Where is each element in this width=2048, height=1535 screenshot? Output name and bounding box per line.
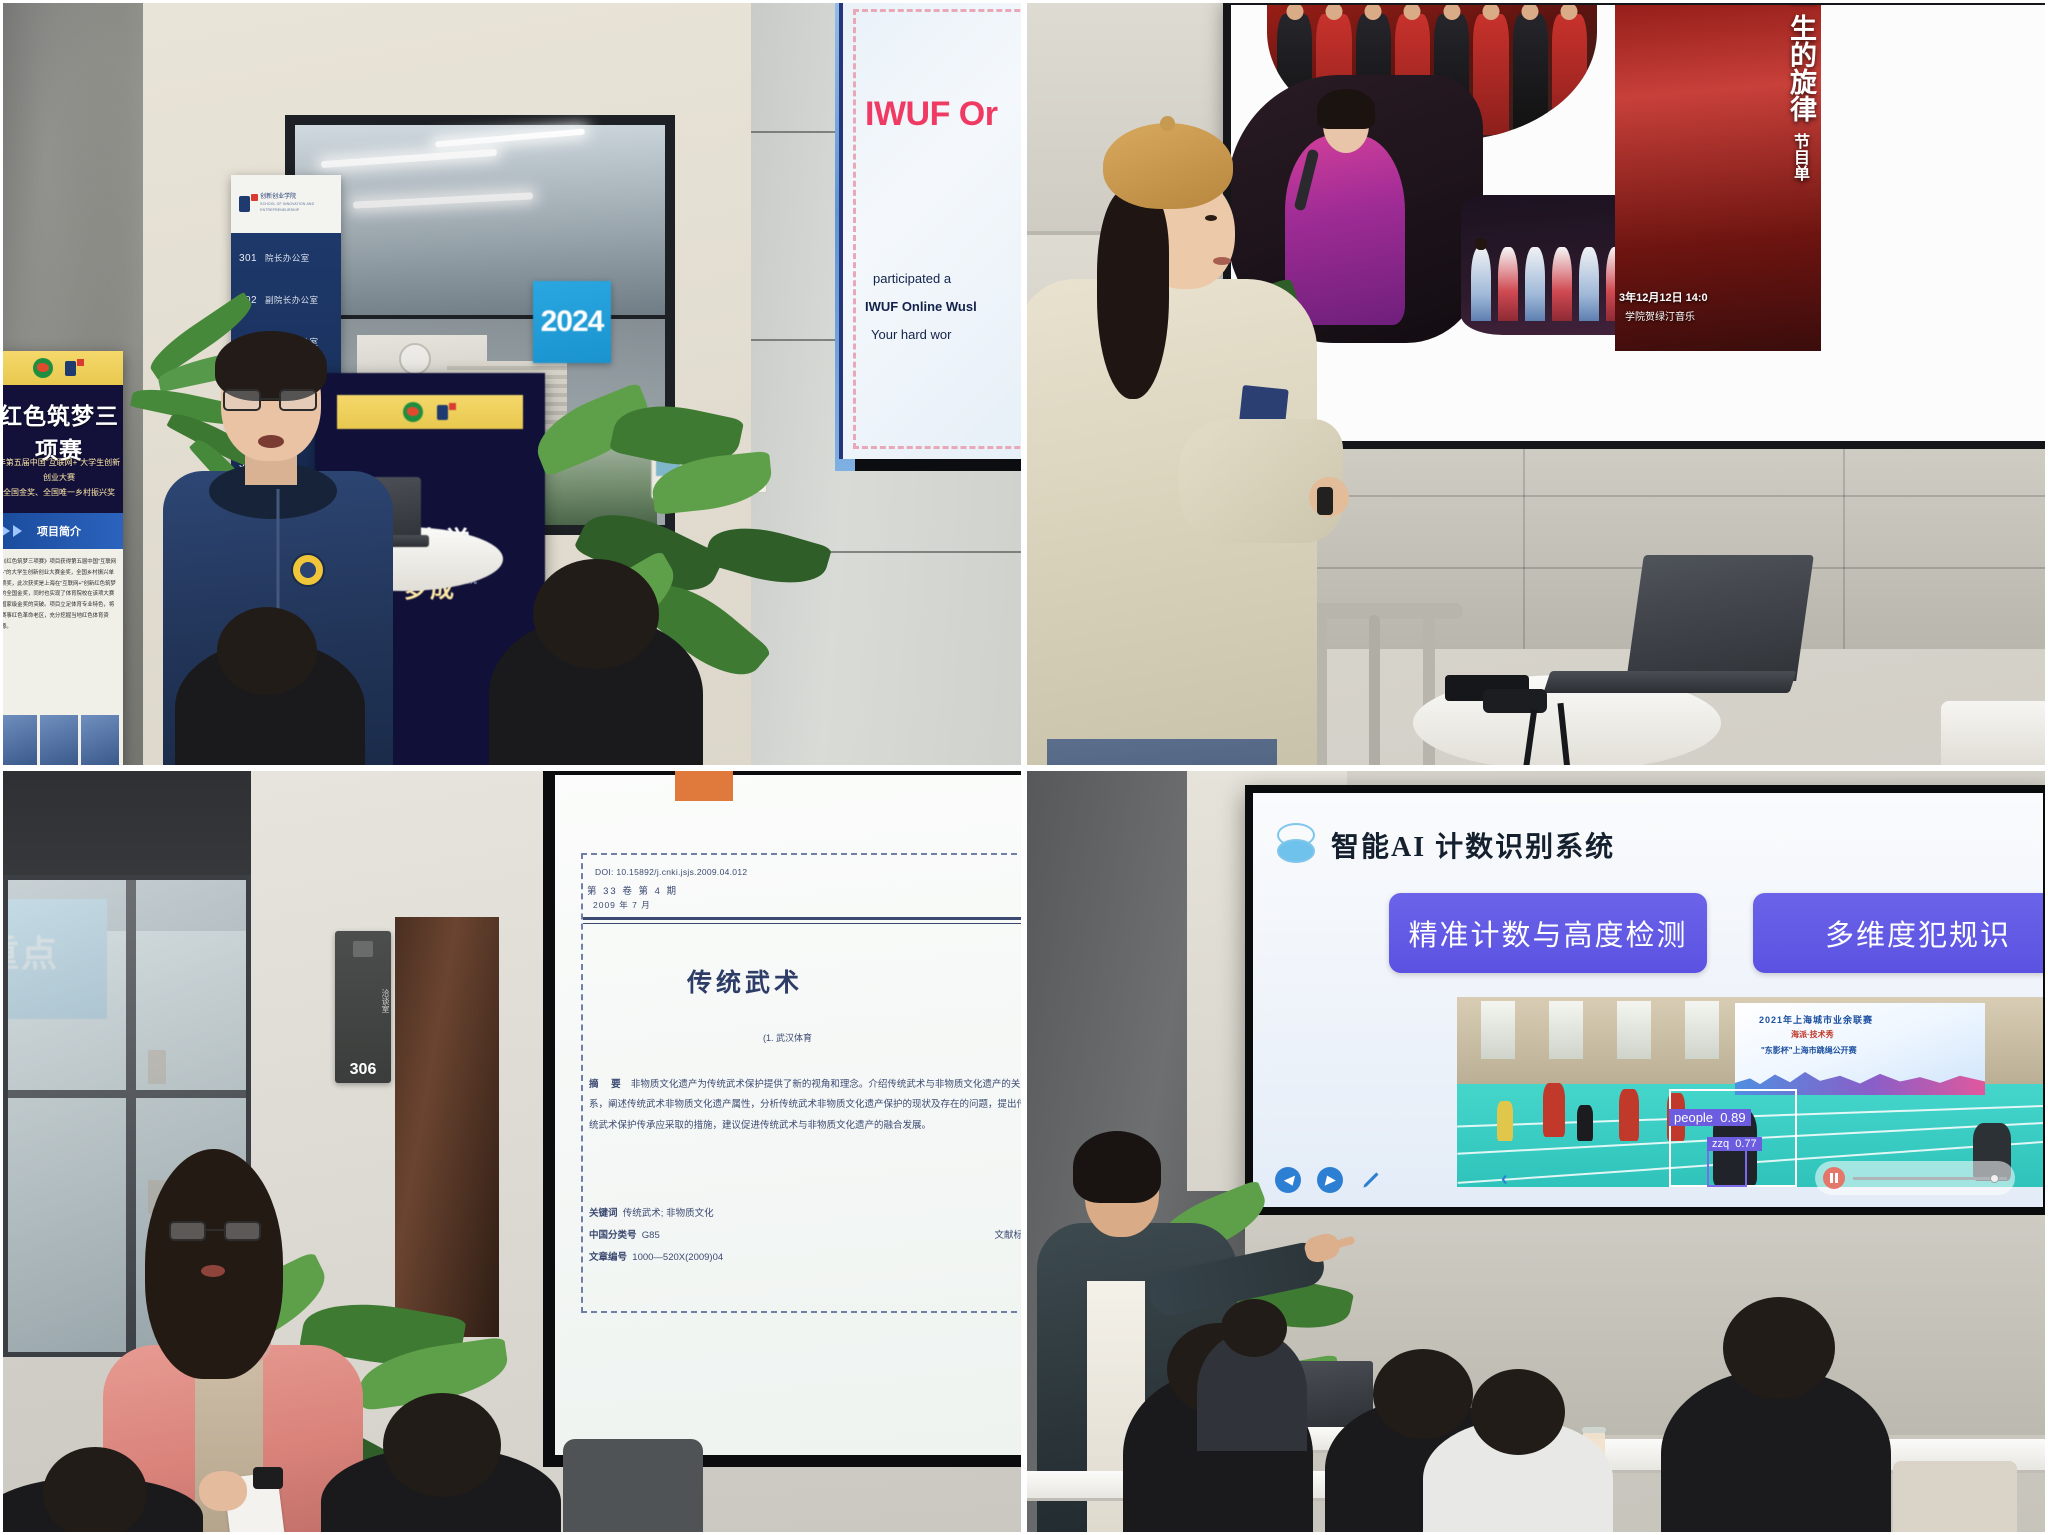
paper-volume: 第 33 卷 第 4 期	[587, 883, 678, 897]
paper-doc-label: 文献标	[994, 1227, 1023, 1241]
white-stool	[1941, 701, 2048, 768]
certificate-line-3: Your hard wor	[871, 327, 1024, 342]
poster-left-section-band: 项目简介	[0, 513, 123, 549]
audience-head	[217, 607, 317, 695]
paper-affiliation: (1. 武汉体育	[763, 1031, 812, 1044]
chevron-left-icon[interactable]: ‹	[1501, 1168, 1508, 1191]
banner-line-2: 海派·技术秀	[1791, 1029, 1834, 1040]
poster-left-logo-bar	[0, 351, 123, 385]
presentation-clicker[interactable]	[1317, 487, 1333, 515]
paper-keywords: 关键词 传统武术; 非物质文化	[589, 1205, 714, 1219]
detection-label-zzq: zzq 0.77	[1707, 1137, 1762, 1151]
ai-detection-video: 2021年上海城市业余联赛 海派·技术秀 "东影杯"上海市跳绳公开赛 peop	[1457, 997, 2043, 1187]
ai-system-slide: 智能AI 计数识别系统 精准计数与高度检测 多维度犯规识 2021年上海城市业余…	[1253, 793, 2043, 1207]
school-badge	[291, 553, 325, 587]
video-progress-bar[interactable]	[1815, 1161, 2015, 1195]
directory-row: 301院长办公室	[231, 237, 341, 279]
poster-left: 红色筑梦三项赛 年第五届中国"互联网+"大学生创新创业大赛 全国金奖、全国唯一乡…	[0, 351, 123, 768]
wooden-door[interactable]	[395, 917, 499, 1337]
detection-box-zzq	[1707, 1147, 1747, 1187]
slide-accent-bar	[675, 768, 733, 801]
room-plaque-number: 306	[335, 1061, 391, 1079]
eyeglasses-icon	[169, 1221, 261, 1241]
chair-back	[563, 1439, 703, 1535]
panel-top-left: 创新创业学院 SCHOOL OF INNOVATION AND ENTREPRE…	[0, 0, 1024, 768]
certificate-rope-border	[853, 9, 1024, 449]
poster-venue-line: 学院贺绿汀音乐	[1625, 308, 1695, 323]
poster-left-subtitle: 年第五届中国"互联网+"大学生创新创业大赛 全国金奖、全国唯一乡村振兴奖	[0, 455, 123, 501]
paper-clc: 中国分类号 G85	[589, 1227, 660, 1241]
audience-head	[1471, 1369, 1565, 1455]
pause-icon[interactable]	[1823, 1167, 1845, 1189]
poster-left-section-label: 项目简介	[37, 523, 81, 539]
certificate-line-2: IWUF Online Wusl	[865, 299, 1024, 314]
audience-head	[43, 1447, 147, 1535]
ai-slide-title: 智能AI 计数识别系统	[1331, 825, 1615, 865]
year-banner-2024: 2024	[533, 281, 611, 363]
photo-collage: 创新创业学院 SCHOOL OF INNOVATION AND ENTREPRE…	[0, 0, 2048, 1535]
room-number-plaque: 洽谈室 306	[335, 931, 391, 1083]
poster-program-label: 节目单	[1787, 133, 1811, 193]
eyeglasses-icon	[223, 389, 317, 411]
presentation-clicker[interactable]	[253, 1467, 283, 1489]
panel-top-right: 一生的旋律 节目单 3年12月12日 14:0 学院贺绿汀音乐	[1024, 0, 2048, 768]
year-banner-text: 2024	[541, 305, 604, 339]
paper-doi: DOI: 10.15892/j.cnki.jsjs.2009.04.012	[595, 867, 747, 877]
circle-stack-icon	[1277, 823, 1315, 867]
ai-feature-chip-2: 多维度犯规识	[1753, 893, 2043, 973]
poster-date-line: 3年12月12日 14:0	[1619, 289, 1708, 305]
led-display-screen: 智能AI 计数识别系统 精准计数与高度检测 多维度犯规识 2021年上海城市业余…	[1245, 785, 2048, 1215]
detection-label-people: people 0.89	[1669, 1109, 1751, 1126]
banner-line-3: "东影杯"上海市跳绳公开赛	[1761, 1045, 1857, 1056]
audience-head	[1373, 1349, 1473, 1439]
audience-head	[533, 559, 659, 669]
banner-line-1: 2021年上海城市业余联赛	[1759, 1013, 1873, 1026]
paper-abstract: 摘 要 非物质文化遗产为传统武术保护提供了新的视角和理念。介绍传统武术与非物质文…	[589, 1075, 1024, 1136]
beret-hat	[1103, 123, 1233, 209]
certificate-title: IWUF Or	[865, 95, 1024, 134]
slide-photo-concert-poster: 一生的旋律 节目单 3年12月12日 14:0 学院贺绿汀音乐	[1615, 5, 1821, 351]
room-plaque-label: 洽谈室	[335, 965, 391, 1037]
audience-head	[1221, 1299, 1287, 1357]
paper-title: 传统武术	[687, 963, 803, 999]
usb-hub	[1483, 689, 1547, 713]
academic-paper-slide: DOI: 10.15892/j.cnki.jsjs.2009.04.012 第 …	[555, 775, 1024, 1455]
play-arrow-icon	[1, 525, 22, 537]
directory-logo-header: 创新创业学院 SCHOOL OF INNOVATION AND ENTREPRE…	[231, 175, 341, 233]
projection-screen-bottom-left: DOI: 10.15892/j.cnki.jsjs.2009.04.012 第 …	[543, 768, 1024, 1467]
event-banner: 2021年上海城市业余联赛 海派·技术秀 "东影杯"上海市跳绳公开赛	[1735, 1003, 1985, 1095]
progress-knob	[1990, 1174, 1999, 1183]
laptop-lid	[1626, 555, 1814, 681]
poster-left-photo-strip	[0, 715, 123, 765]
audience-head	[383, 1393, 501, 1497]
competition-logo-icon	[33, 358, 53, 378]
ai-feature-chip-1: 精准计数与高度检测	[1389, 893, 1707, 973]
progress-track[interactable]	[1853, 1177, 2007, 1180]
concert-slide: 一生的旋律 节目单 3年12月12日 14:0 学院贺绿汀音乐	[1231, 5, 2048, 441]
directory-logo-text: 创新创业学院 SCHOOL OF INNOVATION AND ENTREPRE…	[260, 194, 341, 215]
panel-bottom-left: 重点 洽谈室 306 DOI: 10.15892/j.cnki.jsjs.200…	[0, 768, 1024, 1535]
paper-date: 2009 年 7 月	[593, 899, 651, 911]
paper-article-no: 文章编号 1000—520X(2009)04	[589, 1249, 723, 1263]
laptop-base[interactable]	[1543, 671, 1796, 693]
panel-bottom-right: 智能AI 计数识别系统 精准计数与高度检测 多维度犯规识 2021年上海城市业余…	[1024, 768, 2048, 1535]
certificate-slide: IWUF Or participated a IWUF Online Wusl …	[839, 0, 1024, 459]
school-logo-icon	[437, 403, 457, 421]
audience-head	[1723, 1297, 1835, 1399]
speaker-person-top-right	[1024, 119, 1347, 768]
play-icon[interactable]: ▶	[1317, 1167, 1343, 1193]
competition-logo-icon	[403, 402, 423, 422]
school-logo-icon	[65, 359, 85, 377]
school-logo-icon	[239, 194, 256, 214]
chair[interactable]	[1893, 1461, 2017, 1535]
edit-icon[interactable]	[1359, 1167, 1385, 1193]
certificate-display-screen: IWUF Or participated a IWUF Online Wusl …	[835, 0, 1023, 471]
certificate-line-1: participated a	[873, 271, 1024, 286]
